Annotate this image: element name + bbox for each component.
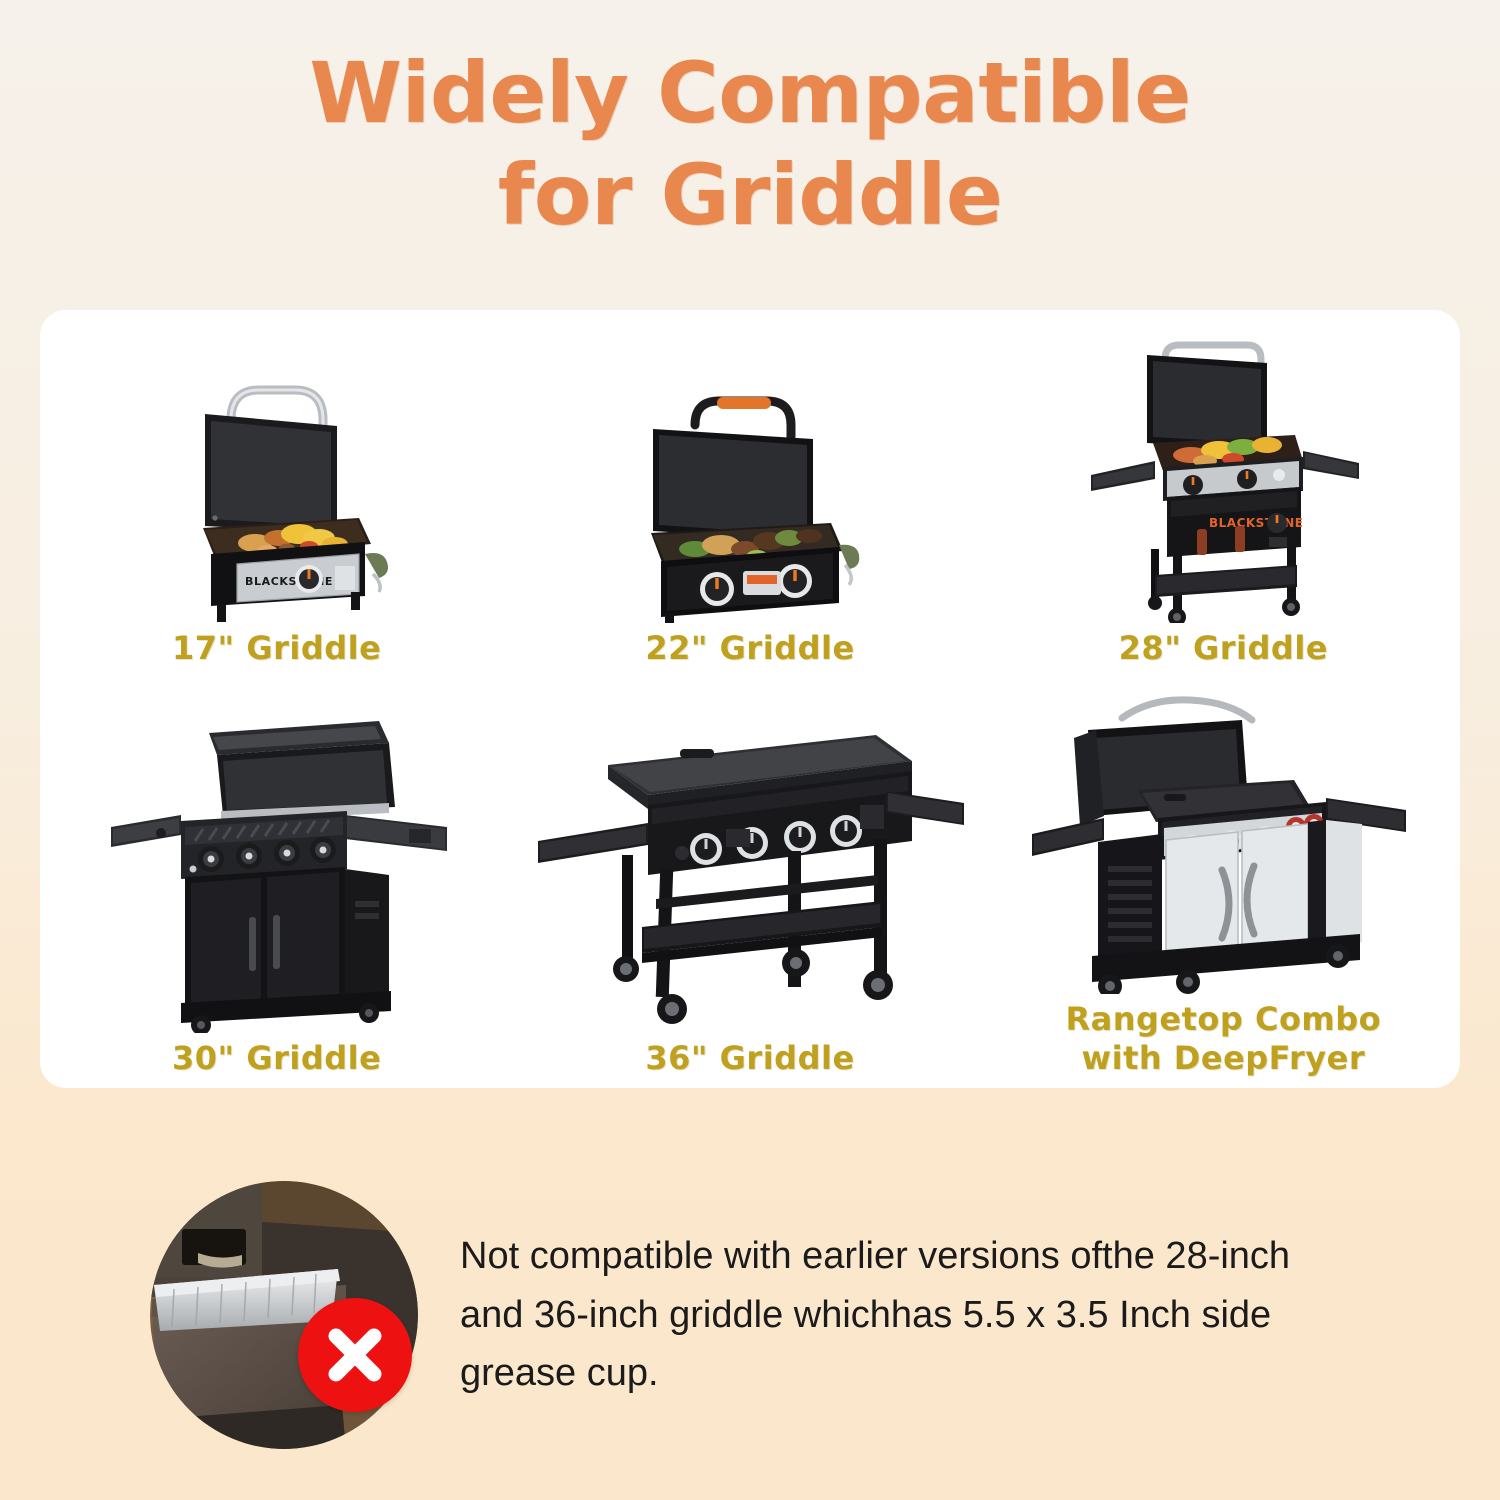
page-title: Widely Compatible for Griddle — [0, 0, 1500, 247]
svg-text:BLACKSTONE: BLACKSTONE — [1209, 516, 1303, 530]
title-line-1: Widely Compatible — [0, 42, 1500, 144]
griddle-22-tabletop-icon — [521, 324, 978, 623]
note-text: Not compatible with earlier versions oft… — [460, 1227, 1360, 1404]
product-label-22: 22" Griddle — [645, 629, 854, 668]
title-line-2: for Griddle — [0, 144, 1500, 246]
product-cell-17: BLACKSTONE 17" Griddle — [40, 310, 513, 680]
product-cell-36: 36" Griddle — [513, 680, 986, 1088]
product-label-30: 30" Griddle — [172, 1039, 381, 1078]
product-cell-28: BLACKSTONE 28 — [987, 310, 1460, 680]
product-label-28: 28" Griddle — [1119, 629, 1328, 668]
griddle-17-tabletop-icon: BLACKSTONE — [48, 324, 505, 623]
compatibility-note: Not compatible with earlier versions oft… — [0, 1150, 1500, 1480]
griddle-28-cart-icon: BLACKSTONE — [995, 324, 1452, 623]
product-cell-22: 22" Griddle — [513, 310, 986, 680]
griddle-36-cart-icon — [521, 694, 978, 1033]
rangetop-combo-deepfryer-icon — [995, 694, 1452, 994]
grill-30-cabinet-icon — [48, 694, 505, 1033]
product-cell-rangetop-combo: Rangetop Combo with DeepFryer — [987, 680, 1460, 1088]
product-cell-30: 30" Griddle — [40, 680, 513, 1088]
product-label-rangetop-combo: Rangetop Combo with DeepFryer — [1066, 1000, 1382, 1078]
product-label-36: 36" Griddle — [645, 1039, 854, 1078]
red-x-icon — [298, 1298, 412, 1412]
compatibility-card: BLACKSTONE 17" Griddle — [40, 310, 1460, 1088]
product-grid: BLACKSTONE 17" Griddle — [40, 310, 1460, 1088]
product-label-17: 17" Griddle — [172, 629, 381, 668]
